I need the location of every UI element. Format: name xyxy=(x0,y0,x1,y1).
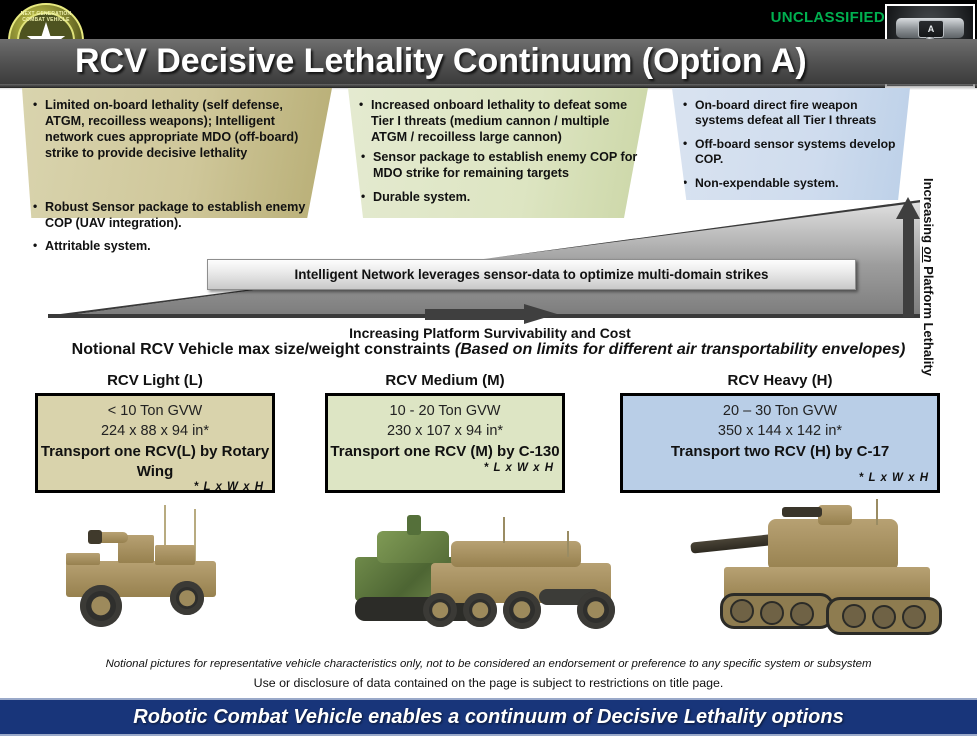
spec-box-light: < 10 Ton GVW 224 x 88 x 94 in* Transport… xyxy=(35,393,275,493)
callout-heavy: On-board direct fire weapon systems defe… xyxy=(672,88,910,200)
spec-box-medium: 10 - 20 Ton GVW 230 x 107 x 94 in* Trans… xyxy=(325,393,565,493)
survivability-axis-label: Increasing Platform Survivability and Co… xyxy=(275,325,705,341)
callout-medium-overflow: Sensor package to establish enemy COP fo… xyxy=(360,150,638,214)
medium-vehicle-image xyxy=(355,515,645,640)
lethality-axis-label-a: Increasing xyxy=(921,178,936,247)
heavy-vehicle-roadwheel-2 xyxy=(760,601,784,625)
heavy-vehicle-mg-mount xyxy=(782,507,822,517)
light-vehicle-image xyxy=(60,505,280,630)
survivability-arrow-icon xyxy=(425,304,557,324)
spec-heavy-transport: Transport two RCV (H) by C-17 xyxy=(623,442,937,462)
logo-top-text: NEXT GENERATION COMBAT VEHICLE xyxy=(10,11,82,23)
column-header-heavy: RCV Heavy (H) xyxy=(620,372,940,389)
spec-light-dims: 224 x 88 x 94 in* xyxy=(38,422,272,442)
page-title: RCV Decisive Lethality Continuum (Option… xyxy=(75,39,965,84)
heavy-vehicle-roadwheel-4 xyxy=(842,604,866,628)
lethality-axis-label: Increasing on Platform Lethality xyxy=(921,178,936,328)
spec-heavy-gvw: 20 – 30 Ton GVW xyxy=(623,402,937,422)
footer-banner-label: Robotic Combat Vehicle enables a continu… xyxy=(133,706,844,729)
heavy-vehicle-turret xyxy=(768,519,898,571)
survivability-arrow-head xyxy=(524,304,557,324)
column-header-light: RCV Light (L) xyxy=(35,372,275,389)
footer-restriction: Use or disclosure of data contained on t… xyxy=(0,676,977,690)
medium-wheeled-vehicle-upper xyxy=(451,541,581,567)
light-vehicle-wheel-front xyxy=(170,581,204,615)
callout-light: Limited on-board lethality (self defense… xyxy=(22,88,332,218)
notional-lead: Notional RCV Vehicle max size/weight con… xyxy=(72,341,455,358)
callout-medium-bullet-2: Durable system. xyxy=(360,190,638,206)
medium-vehicle-wheel-2 xyxy=(463,593,497,627)
medium-wheeled-vehicle-antenna xyxy=(503,517,505,543)
callout-heavy-list: On-board direct fire weapon systems defe… xyxy=(682,98,898,191)
callout-medium-bullet-0: Increased onboard lethality to defeat so… xyxy=(358,98,636,146)
callout-medium-list: Increased onboard lethality to defeat so… xyxy=(358,98,636,146)
light-vehicle-wheel-rear xyxy=(80,585,122,627)
heavy-vehicle-roadwheel-1 xyxy=(730,599,754,623)
spec-box-heavy: 20 – 30 Ton GVW 350 x 144 x 142 in* Tran… xyxy=(620,393,940,493)
spec-light-note: * L x W x H xyxy=(38,481,272,493)
heavy-vehicle-roadwheel-3 xyxy=(790,602,814,626)
spec-medium-dims: 230 x 107 x 94 in* xyxy=(328,422,562,442)
callout-light-bullet-2: Attritable system. xyxy=(32,239,322,255)
heavy-vehicle-roadwheel-5 xyxy=(872,605,896,629)
footer-banner: Robotic Combat Vehicle enables a continu… xyxy=(0,698,977,736)
footer-disclaimer: Notional pictures for representative veh… xyxy=(0,658,977,670)
medium-tracked-vehicle-mast xyxy=(407,515,421,535)
spec-medium-gvw: 10 - 20 Ton GVW xyxy=(328,402,562,422)
survivability-arrow-shaft xyxy=(425,309,525,320)
spec-heavy-dims: 350 x 144 x 142 in* xyxy=(623,422,937,442)
light-vehicle-muzzle xyxy=(88,530,102,544)
lethality-arrow-shaft xyxy=(903,215,914,317)
spec-light-transport: Transport one RCV(L) by Rotary Wing xyxy=(38,442,272,481)
classification-label: UNCLASSIFIED xyxy=(771,9,885,26)
callout-heavy-bullet-2: Non-expendable system. xyxy=(682,176,898,191)
callout-light-bullet-1: Robust Sensor package to establish enemy… xyxy=(32,200,322,232)
heavy-vehicle-commander-cupola xyxy=(818,505,852,525)
callout-light-list: Limited on-board lethality (self defense… xyxy=(32,98,320,162)
callout-medium-bullet-1: Sensor package to establish enemy COP fo… xyxy=(360,150,638,182)
spec-medium-note: * L x W x H xyxy=(328,462,562,474)
light-vehicle-front-rack xyxy=(66,553,100,565)
intelligent-network-banner: Intelligent Network leverages sensor-dat… xyxy=(207,259,856,290)
callout-heavy-bullet-1: Off-board sensor systems develop COP. xyxy=(682,137,898,168)
medium-wheeled-vehicle-antenna-2 xyxy=(567,531,569,557)
lethality-arrow-icon xyxy=(896,197,920,317)
heavy-vehicle-roadwheel-6 xyxy=(902,605,926,629)
medium-vehicle-wheel-1 xyxy=(423,593,457,627)
heavy-vehicle-antenna xyxy=(876,499,878,525)
medium-tracked-vehicle-turret xyxy=(377,531,449,563)
mace-badge-letter: A xyxy=(918,20,944,38)
notional-paren: (Based on limits for different air trans… xyxy=(455,341,905,358)
medium-vehicle-wheel-3 xyxy=(503,591,541,629)
light-vehicle-cargo-box xyxy=(155,545,195,565)
callout-heavy-bullet-0: On-board direct fire weapon systems defe… xyxy=(682,98,898,129)
spec-heavy-note: * L x W x H xyxy=(623,462,937,484)
intelligent-network-banner-label: Intelligent Network leverages sensor-dat… xyxy=(295,267,769,282)
column-header-medium: RCV Medium (M) xyxy=(325,372,565,389)
callout-light-bullet-0: Limited on-board lethality (self defense… xyxy=(32,98,320,162)
lethality-axis-label-em: on xyxy=(921,247,936,263)
spec-medium-transport: Transport one RCV (M) by C-130 xyxy=(328,442,562,462)
notional-constraints-line: Notional RCV Vehicle max size/weight con… xyxy=(0,341,977,359)
medium-vehicle-wheel-4 xyxy=(577,591,615,629)
callout-light-overflow: Robust Sensor package to establish enemy… xyxy=(32,200,322,262)
heavy-vehicle-image xyxy=(690,505,940,640)
spec-light-gvw: < 10 Ton GVW xyxy=(38,402,272,422)
